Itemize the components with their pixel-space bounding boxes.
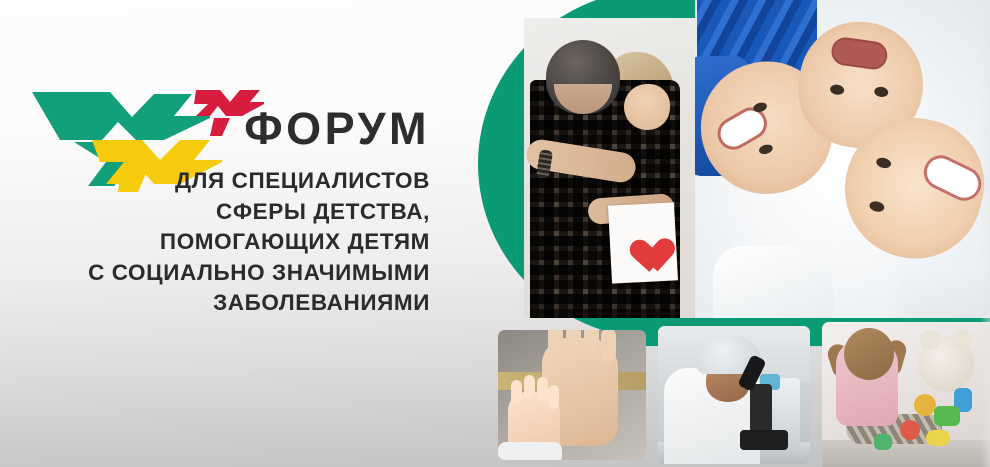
forum-banner: ФОРУМ ДЛЯ СПЕЦИАЛИСТОВ СФЕРЫ ДЕТСТВА, ПО… bbox=[0, 0, 990, 467]
subtitle-line-2: СФЕРЫ ДЕТСТВА, bbox=[0, 197, 430, 228]
subtitle-line-3: ПОМОГАЮЩИХ ДЕТЯМ bbox=[0, 227, 430, 258]
page-subtitle: ДЛЯ СПЕЦИАЛИСТОВ СФЕРЫ ДЕТСТВА, ПОМОГАЮЩ… bbox=[0, 152, 452, 319]
heart-card bbox=[608, 202, 678, 283]
subtitle-line-1: ДЛЯ СПЕЦИАЛИСТОВ bbox=[0, 166, 430, 197]
subtitle-line-5: ЗАБОЛЕВАНИЯМИ bbox=[0, 288, 430, 319]
subtitle-line-4: С СОЦИАЛЬНО ЗНАЧИМЫМИ bbox=[0, 258, 430, 289]
right-edge-fade bbox=[980, 0, 990, 467]
photo-hug-with-heart-card bbox=[524, 18, 709, 318]
heart-icon bbox=[621, 225, 663, 261]
photo-child-with-toys bbox=[822, 322, 990, 467]
page-title: ФОРУМ bbox=[0, 106, 452, 152]
title-block: ФОРУМ ДЛЯ СПЕЦИАЛИСТОВ СФЕРЫ ДЕТСТВА, ПО… bbox=[0, 106, 452, 319]
photo-lab-microscope bbox=[658, 326, 810, 464]
photo-collage bbox=[470, 0, 990, 467]
photo-three-smiling-children bbox=[695, 0, 990, 318]
photo-hands-touching bbox=[498, 330, 646, 460]
